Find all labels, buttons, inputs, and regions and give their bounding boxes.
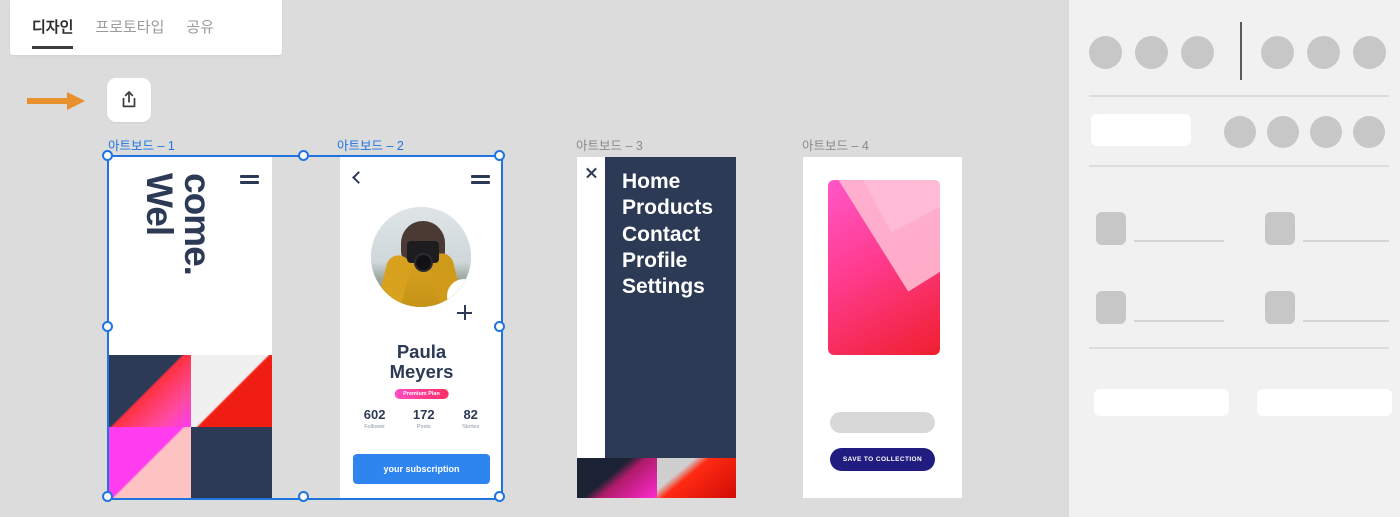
pattern-quadrant-2: [191, 355, 273, 427]
welcome-line-2: come.: [180, 173, 213, 275]
stat-value: 82: [462, 407, 479, 422]
panel-icon[interactable]: [1261, 36, 1294, 69]
nav-item-contact[interactable]: Contact: [622, 222, 713, 248]
profile-stats: 602 Follower 172 Posts 82 Stories: [350, 407, 493, 430]
selection-handle[interactable]: [298, 491, 309, 502]
nav-item-settings[interactable]: Settings: [622, 274, 713, 300]
tab-prototype-label: 프로토타입: [95, 19, 164, 36]
pattern-quadrant-3: [109, 427, 191, 499]
artboard-label-2[interactable]: 아트보드 – 2: [337, 135, 404, 154]
panel-icon[interactable]: [1181, 36, 1214, 69]
nav-item-profile[interactable]: Profile: [622, 248, 713, 274]
tab-design-label: 디자인: [32, 19, 73, 36]
stat-value: 172: [413, 407, 435, 422]
panel-separator: [1089, 95, 1389, 97]
geometric-pattern: [109, 355, 272, 498]
profile-name-line-2: Meyers: [340, 362, 503, 382]
premium-plan-badge: Premium Plan: [394, 389, 449, 399]
panel-divider: [1240, 22, 1242, 80]
panel-input-field[interactable]: [1257, 389, 1392, 416]
panel-field-line[interactable]: [1134, 240, 1224, 242]
panel-icon[interactable]: [1089, 36, 1122, 69]
profile-name-line-1: Paula: [340, 342, 503, 362]
stat-label: Stories: [462, 424, 479, 430]
orange-arrow-icon: [27, 93, 87, 109]
arrow-shaft: [27, 98, 69, 104]
save-to-collection-button[interactable]: SAVE TO COLLECTION: [830, 448, 935, 471]
panel-field-line[interactable]: [1303, 240, 1389, 242]
tab-share-label: 공유: [186, 19, 214, 36]
panel-icon[interactable]: [1353, 36, 1386, 69]
app-root: 디자인 프로토타입 공유 아트보드 – 1 아트보드 – 2 아트보드 – 3 …: [0, 0, 1400, 517]
panel-icon[interactable]: [1267, 116, 1299, 148]
inspector-panel: [1068, 0, 1400, 517]
stat-label: Posts: [413, 424, 435, 430]
nav-item-products[interactable]: Products: [622, 195, 713, 221]
stat-label: Follower: [364, 424, 386, 430]
panel-separator: [1089, 347, 1389, 349]
panel-icon[interactable]: [1135, 36, 1168, 69]
panel-icon[interactable]: [1310, 116, 1342, 148]
panel-swatch[interactable]: [1265, 291, 1295, 324]
tab-design[interactable]: 디자인: [32, 4, 73, 51]
pattern-quadrant-1: [109, 355, 191, 427]
panel-swatch[interactable]: [1265, 212, 1295, 245]
panel-icon[interactable]: [1224, 116, 1256, 148]
artboard-1[interactable]: Wel come.: [109, 157, 272, 498]
artboard-label-1[interactable]: 아트보드 – 1: [108, 135, 175, 154]
panel-field-line[interactable]: [1303, 320, 1389, 322]
nav-menu-panel: Home Products Contact Profile Settings: [605, 157, 736, 458]
panel-separator: [1089, 165, 1389, 167]
tab-share[interactable]: 공유: [186, 4, 214, 51]
stat-value: 602: [364, 407, 386, 422]
nav-menu-list: Home Products Contact Profile Settings: [622, 169, 713, 300]
bottom-pattern-strip: [577, 458, 736, 498]
chevron-left-icon[interactable]: [352, 171, 365, 184]
artboard-3[interactable]: Home Products Contact Profile Settings: [577, 157, 736, 498]
artboard-label-4[interactable]: 아트보드 – 4: [802, 135, 869, 154]
strip-left: [577, 458, 657, 498]
panel-field-line[interactable]: [1134, 320, 1224, 322]
tab-bar: 디자인 프로토타입 공유: [10, 0, 282, 55]
panel-icon[interactable]: [1353, 116, 1385, 148]
arrow-head: [67, 92, 85, 110]
gradient-card: [828, 180, 940, 355]
artboard-4[interactable]: SAVE TO COLLECTION: [803, 157, 962, 498]
share-export-icon: [118, 89, 140, 111]
artboard-2[interactable]: Paula Meyers Premium Plan 602 Follower 1…: [340, 157, 503, 498]
stat-item: 82 Stories: [462, 407, 479, 430]
hamburger-icon[interactable]: [471, 175, 490, 186]
close-icon[interactable]: [585, 166, 598, 179]
panel-input-field[interactable]: [1091, 114, 1191, 146]
pattern-quadrant-4: [191, 427, 273, 499]
avatar: [371, 207, 471, 307]
hamburger-icon[interactable]: [240, 175, 259, 186]
panel-swatch[interactable]: [1096, 212, 1126, 245]
stat-item: 172 Posts: [413, 407, 435, 430]
tab-prototype[interactable]: 프로토타입: [95, 4, 164, 51]
subscription-button[interactable]: your subscription: [353, 454, 490, 484]
panel-swatch[interactable]: [1096, 291, 1126, 324]
strip-right: [657, 458, 737, 498]
welcome-line-1: Wel: [142, 173, 175, 235]
artboard-label-3[interactable]: 아트보드 – 3: [576, 135, 643, 154]
selection-handle[interactable]: [298, 150, 309, 161]
plus-icon[interactable]: [457, 305, 472, 320]
placeholder-pill: [830, 412, 935, 433]
welcome-heading: Wel come.: [117, 171, 177, 331]
profile-name: Paula Meyers: [340, 342, 503, 382]
panel-icon[interactable]: [1307, 36, 1340, 69]
stat-item: 602 Follower: [364, 407, 386, 430]
panel-input-field[interactable]: [1094, 389, 1229, 416]
share-export-button[interactable]: [107, 78, 151, 122]
nav-item-home[interactable]: Home: [622, 169, 713, 195]
